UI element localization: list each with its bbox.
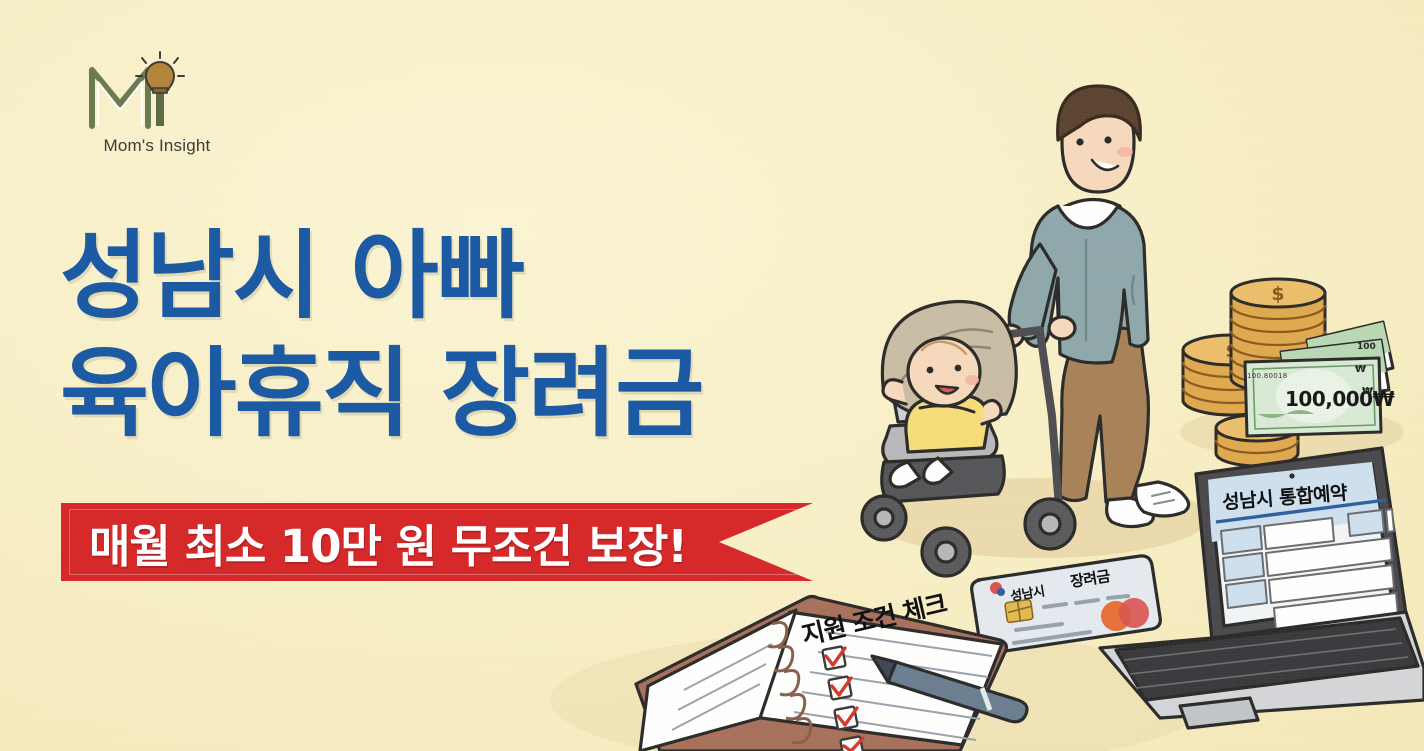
promo-ribbon-text: 매월 최소 10만 원 무조건 보장! <box>61 510 687 575</box>
m-lightbulb-logo-icon <box>62 48 252 138</box>
brand-logo[interactable]: Mom's Insight <box>62 48 252 163</box>
poster-canvas: $ $ $ <box>0 0 1424 751</box>
headline-line-2: 육아휴직 장려금 <box>60 335 860 453</box>
father-head <box>1058 86 1141 192</box>
headline-line-1: 성남시 아빠 <box>60 218 860 335</box>
banknote-corner-top: 100 <box>1357 342 1376 352</box>
brand-name: Mom's Insight <box>62 136 252 156</box>
father-hand-right <box>1049 317 1075 339</box>
banknote-serial: 100.80018 <box>1247 372 1288 380</box>
headline-block: 성남시 아빠 육아휴직 장려금 <box>60 218 860 453</box>
promo-ribbon: 매월 최소 10만 원 무조건 보장! <box>61 503 813 581</box>
banknote-corner-mid: ₩ <box>1355 364 1366 375</box>
banknote-corner-bottom: ₩ <box>1362 386 1373 397</box>
banknote-amount: 100,000₩ <box>1285 387 1394 411</box>
svg-text:$: $ <box>1271 283 1284 305</box>
